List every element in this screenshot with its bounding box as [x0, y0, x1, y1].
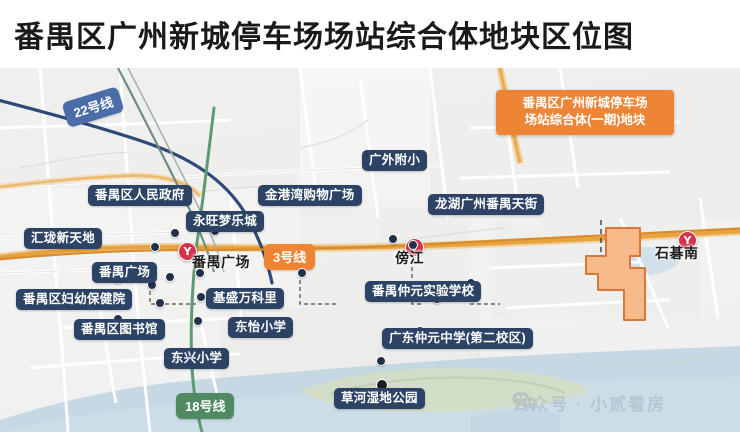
poi-label-maternity-hospital[interactable]: 番禺区妇幼保健院 [16, 289, 132, 310]
watermark: 公众号 · 小贰看房 [512, 390, 666, 415]
poi-label-yongwang-aeonmall[interactable]: 永旺梦乐城 [186, 211, 264, 232]
poi-label-jisheng-vanke[interactable]: 基盛万科里 [206, 288, 284, 309]
poi-dot[interactable] [297, 268, 307, 278]
station-name-pangjiang: 傍江 [395, 248, 424, 268]
poi-label-panyu-government[interactable]: 番禺区人民政府 [88, 185, 192, 206]
poi-dot[interactable] [165, 272, 175, 282]
poi-dot[interactable] [195, 268, 205, 278]
poi-dot[interactable] [155, 298, 165, 308]
wechat-icon [512, 390, 538, 412]
poi-dot[interactable] [376, 356, 386, 366]
map-canvas[interactable]: 22号线 3号线 18号线 Y 番禺广场 Y 傍江 Y 石碁南 [0, 68, 740, 432]
poi-label-zhongyuan-middle[interactable]: 广东仲元中学(第二校区) [382, 328, 533, 349]
poi-label-longfor-paradise-walk[interactable]: 龙湖广州番禺天街 [428, 194, 544, 215]
poi-label-zhongyuan-experimental[interactable]: 番禺仲元实验学校 [365, 281, 481, 302]
metro-line-3-badge[interactable]: 3号线 [264, 244, 315, 270]
figure-title-bar: 番禺区广州新城停车场场站综合体地块区位图 [0, 0, 740, 68]
poi-dot[interactable] [388, 234, 398, 244]
poi-dot[interactable] [196, 292, 206, 302]
poi-label-panyu-library[interactable]: 番禺区图书馆 [74, 319, 165, 340]
metro-line-18-badge[interactable]: 18号线 [176, 393, 234, 419]
poi-label-huilong-xintiandi[interactable]: 汇珑新天地 [24, 228, 102, 249]
page-title: 番禺区广州新城停车场场站综合体地块区位图 [14, 12, 634, 56]
poi-label-jingangwan-mall[interactable]: 金港湾购物广场 [258, 185, 362, 206]
poi-label-caohe-wetland-park[interactable]: 草河湿地公园 [334, 388, 425, 409]
station-name-shiqinan: 石碁南 [655, 243, 699, 263]
poi-dot[interactable] [150, 242, 160, 252]
map-figure: 番禺区广州新城停车场场站综合体地块区位图 [0, 0, 740, 432]
poi-label-dongyi-primary[interactable]: 东怡小学 [228, 317, 293, 338]
poi-label-panyu-square[interactable]: 番禺广场 [92, 262, 157, 283]
poi-dot[interactable] [408, 240, 418, 250]
poi-dot[interactable] [170, 228, 180, 238]
poi-dot[interactable] [193, 316, 203, 326]
poi-label-gwfx-primary[interactable]: 广外附小 [362, 150, 427, 171]
parcel-callout[interactable]: 番禺区广州新城停车场 场站综合体(一期)地块 [496, 90, 674, 135]
poi-label-dongxing-primary[interactable]: 东兴小学 [164, 348, 229, 369]
metro-logo-icon: Y [184, 246, 192, 257]
